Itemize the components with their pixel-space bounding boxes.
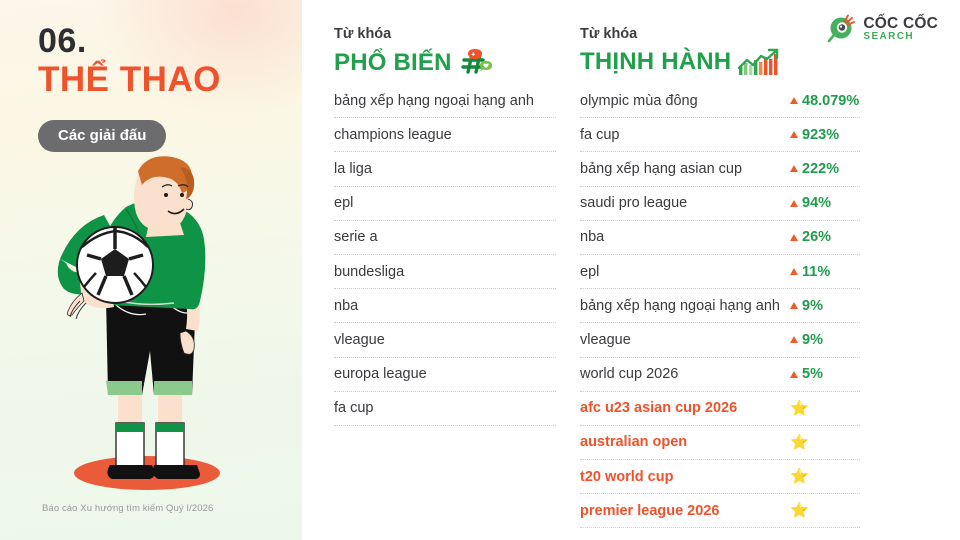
triangle-up-icon	[790, 97, 798, 104]
table-row[interactable]: vleague9%	[580, 323, 860, 357]
growth-value-cell: 5%	[790, 366, 860, 382]
table-row[interactable]: bảng xếp hạng asian cup222%	[580, 152, 860, 186]
growth-percent: 94%	[790, 195, 831, 211]
popular-kicker: Từ khóa	[334, 26, 391, 42]
growth-percent: 9%	[790, 298, 823, 314]
star-icon: ⭐	[790, 435, 809, 450]
growth-value-cell: ⭐	[790, 469, 860, 484]
list-item[interactable]: la liga	[334, 152, 556, 186]
trending-list: olympic mùa đông48.079%fa cup923%bảng xế…	[580, 84, 860, 528]
growth-percent-text: 9%	[802, 298, 823, 314]
growth-value-cell: 94%	[790, 195, 860, 211]
keyword-label: premier league 2026	[580, 503, 719, 519]
star-icon: ⭐	[790, 469, 809, 484]
keyword-label: nba	[334, 298, 358, 314]
keyword-label: vleague	[334, 332, 385, 348]
keyword-label: t20 world cup	[580, 469, 673, 485]
growth-value-cell: ⭐	[790, 401, 860, 416]
growth-value-cell: ⭐	[790, 435, 860, 450]
growth-value-cell: 222%	[790, 161, 860, 177]
keyword-label: bảng xếp hạng ngoại hạng anh	[580, 298, 780, 314]
hashtag-icon	[458, 48, 492, 78]
list-item[interactable]: bảng xếp hạng ngoại hạng anh	[334, 84, 556, 118]
trending-heading-text: THỊNH HÀNH	[580, 48, 731, 76]
keyword-label: vleague	[580, 332, 631, 348]
list-item[interactable]: champions league	[334, 118, 556, 152]
triangle-up-icon	[790, 200, 798, 207]
keyword-label: epl	[334, 195, 353, 211]
popular-heading-row: PHỔ BIẾN	[334, 48, 492, 78]
list-item[interactable]: fa cup	[334, 392, 556, 426]
status-badge: Các giải đấu	[38, 120, 166, 152]
page-title: THỂ THAO	[38, 62, 221, 99]
keyword-label: serie a	[334, 229, 378, 245]
keyword-label: world cup 2026	[580, 366, 678, 382]
growth-value-cell: ⭐	[790, 503, 860, 518]
triangle-up-icon	[790, 268, 798, 275]
trending-kicker: Từ khóa	[580, 26, 637, 42]
keyword-label: australian open	[580, 434, 687, 450]
star-icon: ⭐	[790, 503, 809, 518]
keyword-label: fa cup	[334, 400, 374, 416]
left-hero-panel: 06. THỂ THAO Các giải đấu	[0, 0, 302, 540]
table-row[interactable]: epl11%	[580, 255, 860, 289]
triangle-up-icon	[790, 302, 798, 309]
table-row[interactable]: fa cup923%	[580, 118, 860, 152]
table-row[interactable]: premier league 2026⭐	[580, 494, 860, 528]
keyword-label: bảng xếp hạng ngoại hạng anh	[334, 93, 534, 109]
growth-value-cell: 26%	[790, 229, 860, 245]
triangle-up-icon	[790, 371, 798, 378]
logo-name: CỐC CỐC	[863, 16, 938, 32]
list-item[interactable]: epl	[334, 187, 556, 221]
keyword-label: nba	[580, 229, 604, 245]
star-icon: ⭐	[790, 401, 809, 416]
table-row[interactable]: bảng xếp hạng ngoại hạng anh9%	[580, 289, 860, 323]
trending-keywords-column: Từ khóa THỊNH HÀNH olympic mùa đông48.	[580, 0, 860, 540]
keyword-label: fa cup	[580, 127, 620, 143]
growth-percent-text: 5%	[802, 366, 823, 382]
triangle-up-icon	[790, 336, 798, 343]
growth-percent-text: 222%	[802, 161, 839, 177]
list-item[interactable]: nba	[334, 289, 556, 323]
rising-bar-chart-icon	[737, 48, 781, 76]
keyword-label: la liga	[334, 161, 372, 177]
growth-value-cell: 923%	[790, 127, 860, 143]
growth-percent: 923%	[790, 127, 839, 143]
growth-percent-text: 11%	[802, 264, 830, 280]
table-row[interactable]: world cup 20265%	[580, 358, 860, 392]
growth-percent-text: 9%	[802, 332, 823, 348]
soccer-player-illustration	[30, 155, 260, 495]
keyword-label: champions league	[334, 127, 452, 143]
table-row[interactable]: nba26%	[580, 221, 860, 255]
growth-value-cell: 48.079%	[790, 93, 860, 109]
list-item[interactable]: bundesliga	[334, 255, 556, 289]
list-item[interactable]: vleague	[334, 323, 556, 357]
growth-percent-text: 94%	[802, 195, 831, 211]
growth-percent: 48.079%	[790, 93, 859, 109]
growth-percent: 26%	[790, 229, 831, 245]
keyword-label: bundesliga	[334, 264, 404, 280]
report-footer-note: Báo cáo Xu hướng tìm kiếm Quý I/2026	[42, 503, 213, 514]
trending-heading-row: THỊNH HÀNH	[580, 48, 781, 76]
keyword-label: saudi pro league	[580, 195, 687, 211]
growth-percent: 11%	[790, 264, 830, 280]
keyword-label: europa league	[334, 366, 427, 382]
growth-percent-text: 48.079%	[802, 93, 859, 109]
table-row[interactable]: saudi pro league94%	[580, 187, 860, 221]
keyword-label: olympic mùa đông	[580, 93, 698, 109]
growth-percent: 9%	[790, 332, 823, 348]
keyword-label: afc u23 asian cup 2026	[580, 400, 737, 416]
growth-value-cell: 9%	[790, 298, 860, 314]
keyword-label: bảng xếp hạng asian cup	[580, 161, 742, 177]
table-row[interactable]: australian open⭐	[580, 426, 860, 460]
triangle-up-icon	[790, 165, 798, 172]
popular-heading-text: PHỔ BIẾN	[334, 49, 452, 77]
growth-value-cell: 11%	[790, 264, 860, 280]
list-item[interactable]: europa league	[334, 358, 556, 392]
section-number: 06.	[38, 22, 87, 61]
growth-percent: 222%	[790, 161, 839, 177]
popular-keywords-column: Từ khóa PHỔ BIẾN bảng xếp hạng ngoại hạn…	[334, 0, 556, 540]
popular-list: bảng xếp hạng ngoại hạng anhchampions le…	[334, 84, 556, 426]
growth-value-cell: 9%	[790, 332, 860, 348]
keyword-label: epl	[580, 264, 599, 280]
triangle-up-icon	[790, 234, 798, 241]
table-row[interactable]: t20 world cup⭐	[580, 460, 860, 494]
list-item[interactable]: serie a	[334, 221, 556, 255]
table-row[interactable]: afc u23 asian cup 2026⭐	[580, 392, 860, 426]
growth-percent-text: 923%	[802, 127, 839, 143]
logo-subtitle: SEARCH	[863, 32, 938, 43]
growth-percent-text: 26%	[802, 229, 831, 245]
growth-percent: 5%	[790, 366, 823, 382]
table-row[interactable]: olympic mùa đông48.079%	[580, 84, 860, 118]
infographic-slide: 06. THỂ THAO Các giải đấu	[0, 0, 960, 540]
triangle-up-icon	[790, 131, 798, 138]
